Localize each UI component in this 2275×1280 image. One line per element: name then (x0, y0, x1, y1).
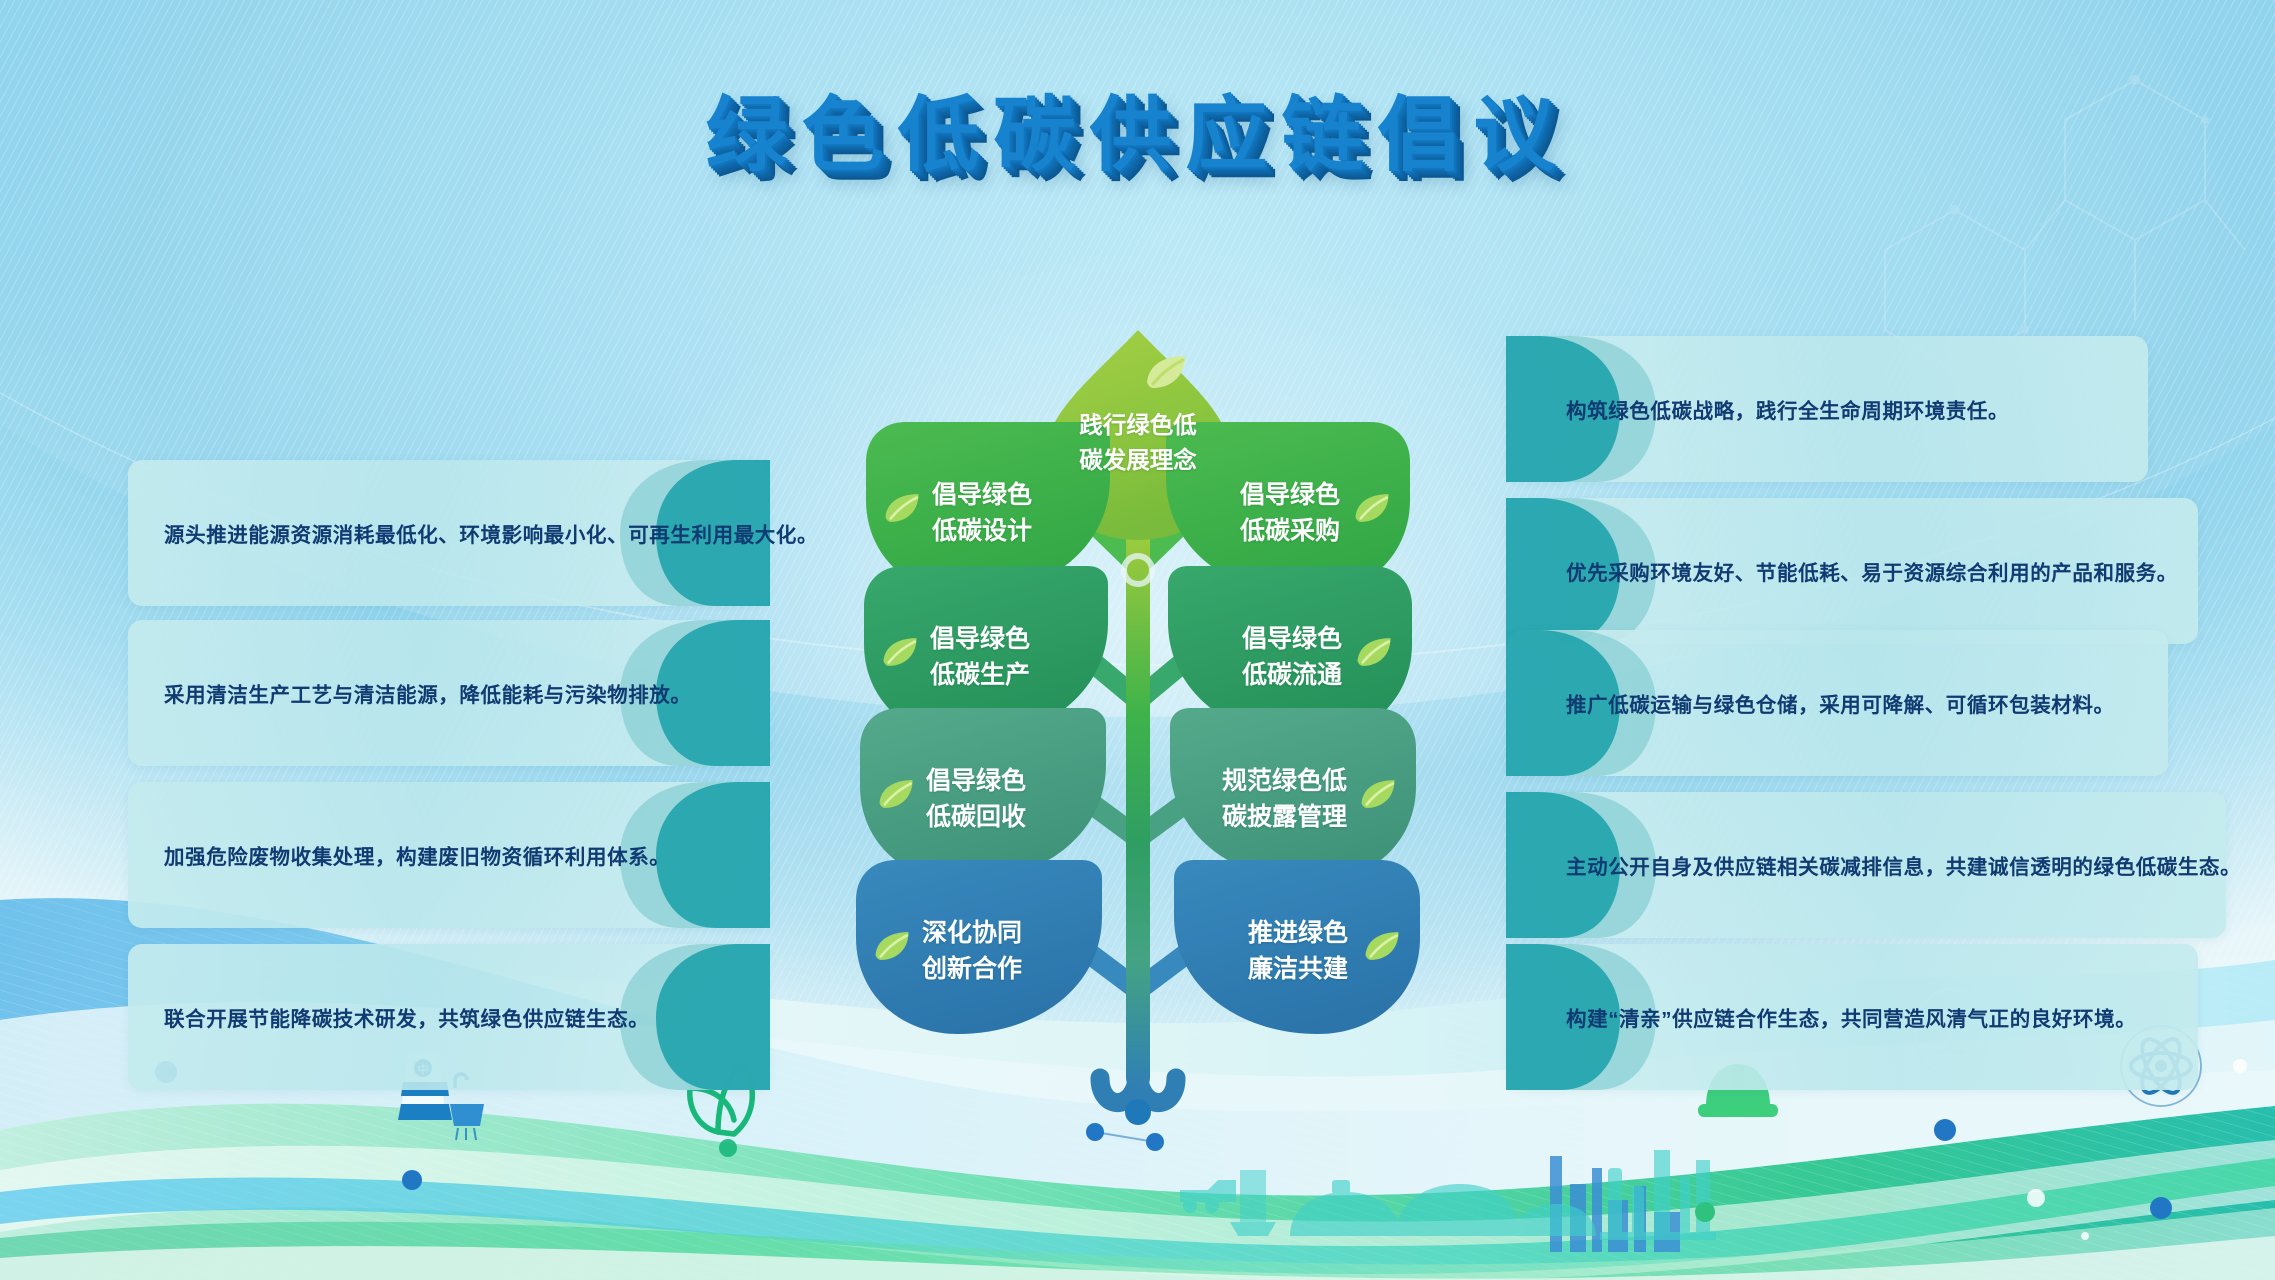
tree-node-right-4 (1174, 860, 1420, 1034)
page-title: 绿色低碳供应链倡议 (705, 68, 1569, 187)
tree-diagram: 践行绿色低 碳发展理念 倡导绿色 低碳设计 倡导绿色 低碳采购 倡导绿色 低碳生… (0, 0, 2275, 1280)
tree-node-left-3 (860, 708, 1106, 882)
page-title-wrap: 绿色低碳供应链倡议 (0, 68, 2275, 187)
tree-node-right-3 (1170, 708, 1416, 882)
tree-node-left-4 (856, 860, 1102, 1034)
tree-root-dot (1125, 1099, 1151, 1125)
